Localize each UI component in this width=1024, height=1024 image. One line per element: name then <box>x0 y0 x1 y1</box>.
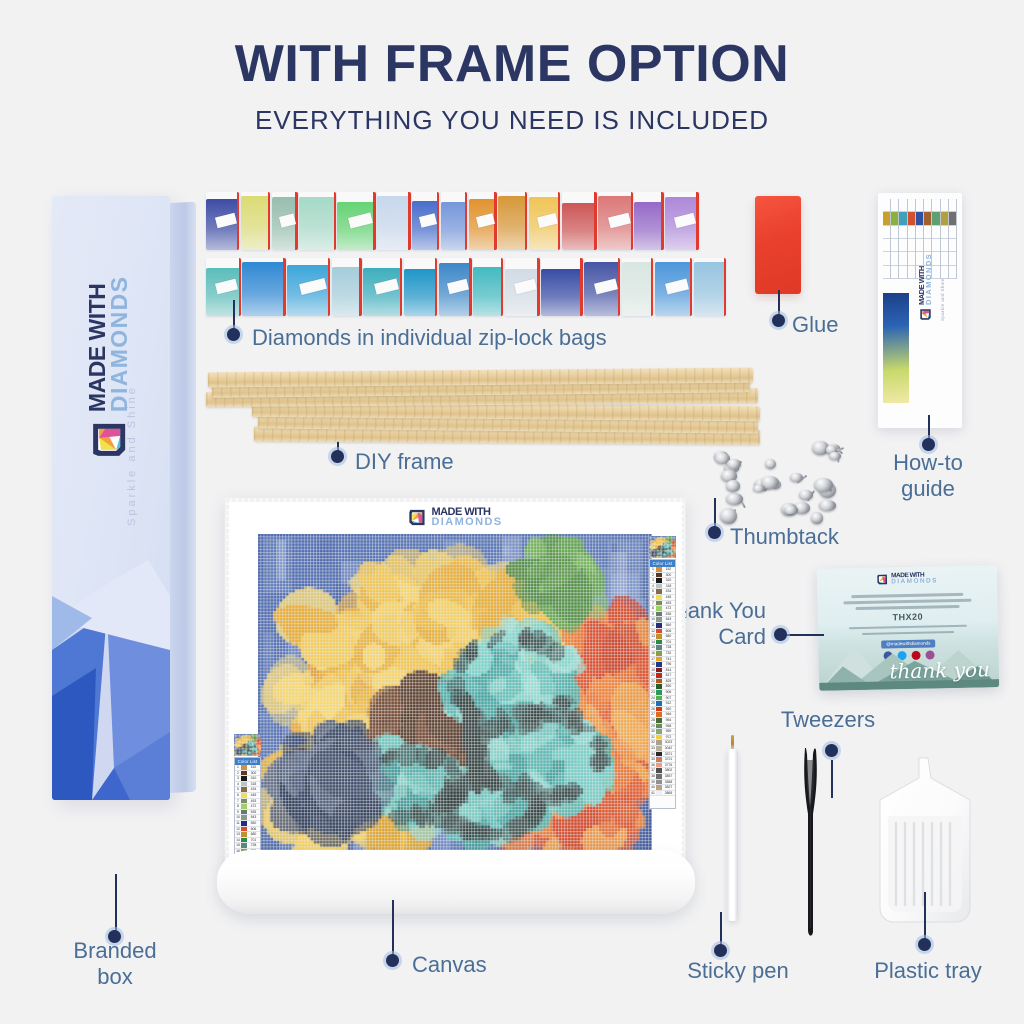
bag-zipper <box>239 258 241 316</box>
bag-zipper <box>469 258 471 316</box>
guide-table-cell <box>924 226 931 239</box>
bag-zipper <box>525 192 527 250</box>
ziplock-bag <box>505 258 540 316</box>
guide-table-cell <box>908 266 915 279</box>
bag-diamonds <box>473 267 503 316</box>
pen-body <box>727 749 738 921</box>
color-row-code: 453 <box>247 799 260 804</box>
bag-zipper <box>435 258 437 316</box>
label-canvas: Canvas <box>412 952 487 978</box>
bag-zipper <box>494 192 496 250</box>
diy-frame-bars <box>206 368 766 446</box>
how-to-guide-booklet: MADE WITH DIAMONDS Sparkle and Shine <box>878 193 962 428</box>
ziplock-bag <box>655 258 692 316</box>
guide-table-cell <box>924 199 931 212</box>
color-list-thumbnail-right <box>649 536 676 558</box>
bag-zipper <box>334 192 336 250</box>
bag-diamonds <box>498 196 527 250</box>
color-row-code: 310 <box>662 578 675 583</box>
color-row-code: 550 <box>247 821 260 826</box>
guide-table-cell <box>924 212 931 225</box>
bag-zipper <box>400 258 402 316</box>
diamond-painting-canvas: MADE WITH DIAMONDS Color List11522300331… <box>225 498 685 918</box>
diamond-logo-icon <box>919 308 932 321</box>
ziplock-bag <box>541 258 583 316</box>
ziplock-bag <box>634 192 663 250</box>
leader-line-thankyou <box>784 634 824 636</box>
guide-table-cell <box>932 252 939 265</box>
guide-table-cell <box>941 266 948 279</box>
box-logo: MADE WITH DIAMONDS <box>87 233 131 503</box>
ziplock-bag <box>584 258 620 316</box>
thank-you-card: MADE WITH DIAMONDS THX20 @madewithdiamon… <box>817 565 1000 691</box>
canvas-artwork <box>258 534 652 854</box>
canvas-roll <box>217 850 695 914</box>
canvas-edge-left <box>224 498 229 873</box>
color-row-code: 954 <box>662 718 675 723</box>
box-side-face <box>170 202 196 793</box>
ziplock-bag <box>665 192 699 250</box>
guide-brand-line2: DIAMONDS <box>925 253 932 305</box>
guide-table-cell <box>883 226 890 239</box>
canvas-edge-top <box>225 497 685 502</box>
guide-table-column <box>949 199 957 279</box>
color-row-code: 445 <box>247 793 260 798</box>
guide-table-cell <box>899 212 906 225</box>
color-row-code: 318 <box>247 782 260 787</box>
bag-zipper <box>328 258 330 316</box>
card-discount-code: THX20 <box>818 610 998 624</box>
guide-table-column <box>891 199 899 279</box>
guide-table-cell <box>883 239 890 252</box>
guide-table-cell <box>941 239 948 252</box>
guide-table-cell <box>899 226 906 239</box>
label-glue: Glue <box>792 312 838 338</box>
color-row-code: 680 <box>662 634 675 639</box>
bag-zipper <box>465 192 467 250</box>
thumbtack <box>720 508 737 524</box>
color-row-code: 3023 <box>662 740 675 745</box>
guide-table-cell <box>941 252 948 265</box>
guide-table-cell <box>891 212 898 225</box>
bag-zipper <box>537 258 539 316</box>
guide-table-column <box>899 199 907 279</box>
leader-dot-tray <box>918 938 931 951</box>
ziplock-bag <box>622 258 654 316</box>
guide-table-cell <box>908 212 915 225</box>
guide-table-cell <box>932 226 939 239</box>
label-sticky-pen: Sticky pen <box>668 958 808 984</box>
guide-table-cell <box>891 226 898 239</box>
color-list-header: Color List <box>650 560 675 567</box>
ziplock-bag <box>337 192 375 250</box>
ziplock-bag <box>332 258 362 316</box>
guide-table-cell <box>941 199 948 212</box>
bag-zipper <box>283 258 285 316</box>
bag-diamonds <box>541 269 583 316</box>
ziplock-bag <box>287 258 330 316</box>
guide-logo: MADE WITH DIAMONDS <box>918 253 932 321</box>
bag-zipper <box>359 258 361 316</box>
leader-line-branded-box <box>115 874 117 936</box>
guide-table-column <box>932 199 940 279</box>
bag-zipper <box>373 192 375 250</box>
ziplock-bag <box>469 192 497 250</box>
thumbtacks-pile <box>712 437 846 529</box>
color-row-code: 472 <box>247 804 260 809</box>
guide-table-cell <box>908 239 915 252</box>
color-row-code: 701 <box>247 838 260 843</box>
color-row-code: 907 <box>662 696 675 701</box>
guide-table-cell <box>883 212 890 225</box>
color-row-code: 3776 <box>662 763 675 768</box>
canvas-sheet: MADE WITH DIAMONDS Color List11522300331… <box>225 498 685 873</box>
ziplock-bag-row-bottom <box>206 258 706 316</box>
guide-table-cell <box>932 239 939 252</box>
guide-table-cell <box>941 212 948 225</box>
leader-dot-pen <box>714 944 727 957</box>
guide-table-cell <box>899 199 906 212</box>
bag-zipper <box>631 192 633 250</box>
color-row-code: 318 <box>662 584 675 589</box>
bag-diamonds <box>441 202 467 250</box>
diamond-logo-icon <box>407 508 426 527</box>
color-row-code: 445 <box>662 595 675 600</box>
bag-zipper <box>501 258 503 316</box>
color-list-right: Color List115223003310431854346445745384… <box>649 559 676 809</box>
color-row-code: 741 <box>662 657 675 662</box>
bag-diamonds <box>299 197 336 250</box>
color-row-code: 543 <box>662 617 675 622</box>
guide-cover-image <box>883 293 909 403</box>
bag-zipper <box>661 192 663 250</box>
guide-table-cell <box>932 212 939 225</box>
canvas-logo: MADE WITH DIAMONDS <box>407 507 502 528</box>
color-row-code: 814 <box>662 668 675 673</box>
ziplock-bag <box>562 192 597 250</box>
box-tagline: Sparkle and Shine <box>126 385 138 526</box>
color-row-code: 796 <box>662 662 675 667</box>
color-row-code: 912 <box>662 701 675 706</box>
color-row-code: 728 <box>662 645 675 650</box>
color-row-code: 3802 <box>662 768 675 773</box>
leader-dot-tweezers <box>825 744 838 757</box>
guide-table-cell <box>924 239 931 252</box>
color-row-code: 906 <box>662 690 675 695</box>
color-list-thumbnail-left <box>234 734 261 756</box>
guide-table-cell <box>908 252 915 265</box>
ziplock-bag <box>363 258 402 316</box>
ziplock-bag <box>299 192 336 250</box>
ziplock-bag <box>441 192 467 250</box>
guide-table-column <box>883 199 891 279</box>
bag-zipper <box>268 192 270 250</box>
ziplock-bag <box>439 258 472 316</box>
thumbtack <box>811 512 823 523</box>
ziplock-bag <box>598 192 633 250</box>
guide-table-cell <box>949 239 956 252</box>
bag-zipper <box>618 258 620 316</box>
page-subtitle: EVERYTHING YOU NEED IS INCLUDED <box>0 105 1024 136</box>
box-geometric-pattern <box>52 500 170 800</box>
thumbtack <box>765 459 776 469</box>
color-row-code: 300 <box>662 573 675 578</box>
label-branded-box: Branded box <box>40 938 190 989</box>
guide-table-cell <box>891 239 898 252</box>
guide-table-cell <box>932 199 939 212</box>
thumbtack <box>726 480 740 492</box>
guide-table-cell <box>932 266 939 279</box>
bag-diamonds <box>634 202 663 250</box>
label-thumbtack: Thumbtack <box>730 524 839 550</box>
leader-dot-bags <box>227 328 240 341</box>
color-row-code: 434 <box>662 589 675 594</box>
bag-diamonds <box>694 262 726 316</box>
bag-zipper <box>558 192 560 250</box>
ziplock-bag <box>694 258 726 316</box>
card-thank-you-script: thank you <box>889 661 990 679</box>
ziplock-bag-row-top <box>206 192 706 250</box>
color-row-code: 434 <box>247 787 260 792</box>
thumbtack <box>814 478 832 492</box>
sticky-pen <box>727 735 738 921</box>
color-row-code: 825 <box>662 679 675 684</box>
color-row-code: 972 <box>662 735 675 740</box>
bag-zipper <box>690 258 692 316</box>
guide-subtitle: Sparkle and Shine <box>940 278 945 321</box>
color-row-code: 472 <box>662 606 675 611</box>
color-row-code: 152 <box>247 765 260 770</box>
color-row-code: 535 <box>662 612 675 617</box>
color-row-code: 535 <box>247 810 260 815</box>
color-row-code: 606 <box>247 827 260 832</box>
guide-table-cell <box>949 212 956 225</box>
leader-dot-thankyou <box>774 628 787 641</box>
box-front-face: MADE WITH DIAMONDS Sparkle and Shine <box>52 196 170 800</box>
label-bags: Diamonds in individual zip-lock bags <box>252 325 672 351</box>
color-row-code: 152 <box>662 567 675 572</box>
ziplock-bag <box>412 192 439 250</box>
guide-table-cell <box>949 252 956 265</box>
bag-zipper <box>237 192 239 250</box>
diamond-logo-icon <box>89 420 129 460</box>
bag-diamonds <box>242 262 285 316</box>
page-title: WITH FRAME OPTION <box>0 34 1024 94</box>
color-row-code: 728 <box>247 843 260 848</box>
ziplock-bag <box>473 258 503 316</box>
card-brand-line2: DIAMONDS <box>891 579 938 586</box>
guide-table-cell <box>949 266 956 279</box>
bag-diamonds <box>622 262 654 316</box>
ziplock-bags-group <box>206 192 706 318</box>
color-row-code: 959 <box>662 729 675 734</box>
guide-table-cell <box>908 226 915 239</box>
bag-zipper <box>724 258 726 316</box>
ziplock-bag <box>498 192 527 250</box>
color-row-code: 550 <box>662 623 675 628</box>
thumbtack <box>753 485 764 492</box>
label-tweezers: Tweezers <box>758 707 898 733</box>
guide-table-cell <box>883 266 890 279</box>
guide-table-column <box>941 199 949 279</box>
label-plastic-tray: Plastic tray <box>858 958 998 984</box>
color-row-code: 732 <box>662 651 675 656</box>
color-row-code: 680 <box>247 832 260 837</box>
guide-table-column <box>908 199 916 279</box>
bag-zipper <box>696 192 698 250</box>
plastic-tray <box>878 756 976 928</box>
ziplock-bag <box>377 192 410 250</box>
leader-dot-thumbtack <box>708 526 721 539</box>
leader-dot-frame <box>331 450 344 463</box>
ziplock-bag <box>529 192 561 250</box>
bag-zipper <box>651 258 653 316</box>
guide-table-cell <box>916 239 923 252</box>
guide-table-cell <box>916 212 923 225</box>
color-row-code: 946 <box>662 712 675 717</box>
label-frame: DIY frame <box>355 449 454 475</box>
color-row-code: 300 <box>247 771 260 776</box>
bag-diamonds <box>562 203 597 250</box>
ziplock-bag <box>242 258 285 316</box>
leader-dot-glue <box>772 314 785 327</box>
guide-table-cell <box>891 252 898 265</box>
leader-line-tweezers <box>831 760 833 798</box>
leader-line-tray <box>924 892 926 942</box>
tweezers <box>792 748 828 940</box>
bag-zipper <box>437 192 439 250</box>
thumbtack <box>819 500 836 511</box>
guide-table-cell <box>908 199 915 212</box>
guide-table-cell <box>916 199 923 212</box>
color-row-code: 453 <box>662 601 675 606</box>
canvas-brand-line2: DIAMONDS <box>431 517 502 527</box>
guide-table-cell <box>899 239 906 252</box>
guide-table-cell <box>899 252 906 265</box>
ziplock-bag <box>404 258 437 316</box>
bag-zipper <box>594 192 596 250</box>
card-logo: MADE WITH DIAMONDS <box>876 572 938 586</box>
guide-table-cell <box>891 266 898 279</box>
color-row-code: 3865 <box>662 791 675 796</box>
color-row-code: 817 <box>662 673 675 678</box>
guide-table-cell <box>883 252 890 265</box>
color-row-code: 3827 <box>662 785 675 790</box>
bag-zipper <box>408 192 410 250</box>
guide-table-cell <box>891 199 898 212</box>
leader-dot-canvas <box>386 954 399 967</box>
bag-diamonds <box>241 196 270 250</box>
color-row-code: 3858 <box>662 780 675 785</box>
color-list-row: 413865 <box>650 791 675 797</box>
color-list-header: Color List <box>235 758 260 765</box>
canvas-edge-right <box>681 498 686 873</box>
guide-table-cell <box>941 226 948 239</box>
glue-stick <box>755 196 801 294</box>
thumbtack <box>784 506 798 515</box>
color-row-code: 958 <box>662 724 675 729</box>
bag-diamonds <box>404 269 437 316</box>
bag-diamonds <box>377 196 410 250</box>
infographic-stage: WITH FRAME OPTION EVERYTHING YOU NEED IS… <box>0 0 1024 1024</box>
branded-box: MADE WITH DIAMONDS Sparkle and Shine <box>52 196 202 800</box>
leader-line-pen <box>720 912 722 948</box>
guide-table-cell <box>916 226 923 239</box>
bag-zipper <box>580 258 582 316</box>
color-row-code: 606 <box>662 629 675 634</box>
color-row-code: 890 <box>662 684 675 689</box>
thumbtack <box>799 490 812 500</box>
ziplock-bag <box>206 192 239 250</box>
guide-table-cell <box>883 199 890 212</box>
label-guide: How-to guide <box>858 450 998 501</box>
bag-diamonds <box>332 267 362 316</box>
color-row-code: 920 <box>662 707 675 712</box>
color-row-code: 701 <box>662 640 675 645</box>
guide-table-cell <box>949 199 956 212</box>
color-row-code: 310 <box>247 776 260 781</box>
ziplock-bag <box>206 258 241 316</box>
guide-table-cell <box>949 226 956 239</box>
color-row-code: 543 <box>247 815 260 820</box>
color-row-code: 3721 <box>662 757 675 762</box>
ziplock-bag <box>241 192 270 250</box>
ziplock-bag <box>272 192 298 250</box>
color-row-code: 3042 <box>662 746 675 751</box>
guide-table-cell <box>899 266 906 279</box>
color-row-code: 3371 <box>662 752 675 757</box>
diamond-logo-icon <box>876 574 888 586</box>
leader-line-canvas <box>392 900 394 956</box>
thumbtack <box>727 459 741 468</box>
color-row-code: 3857 <box>662 774 675 779</box>
